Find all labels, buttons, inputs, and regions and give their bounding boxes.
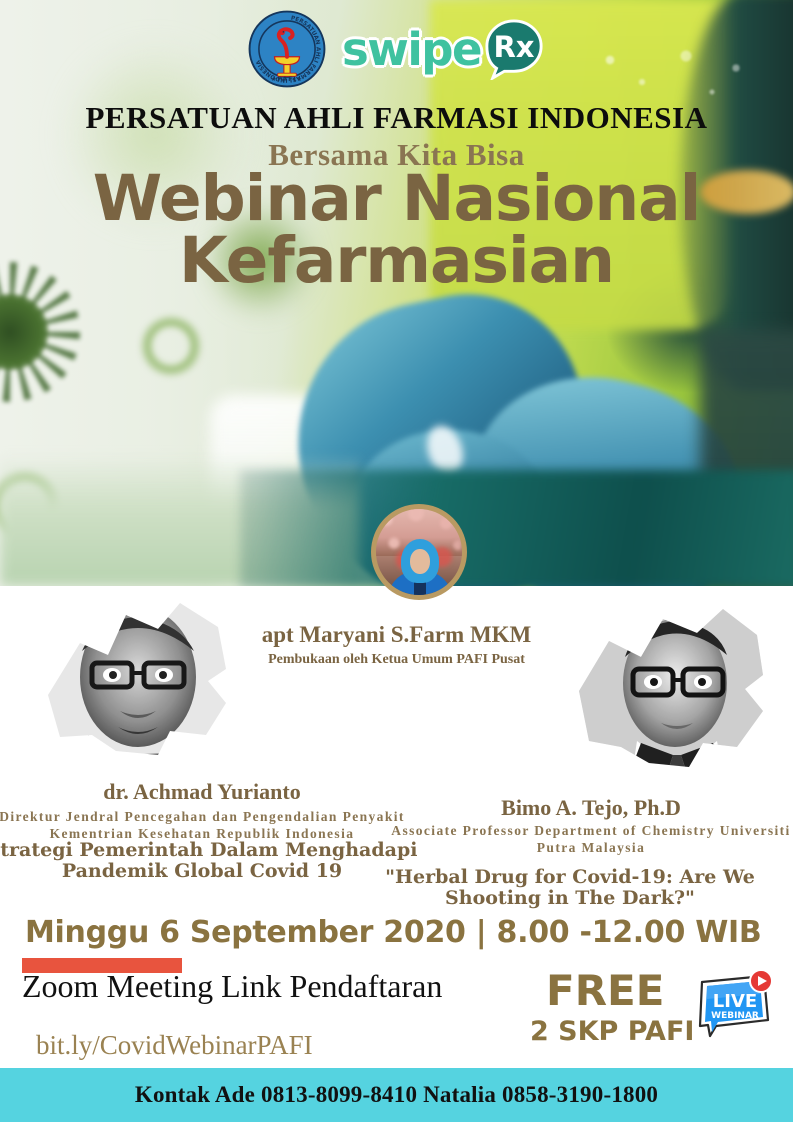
right-speaker-name: Bimo A. Tejo, Ph.D <box>381 795 793 821</box>
virus-blob <box>140 315 202 377</box>
credits-label: 2 SKP PAFI <box>530 1016 694 1047</box>
teal-band <box>240 470 793 586</box>
contact-band: Kontak Ade 0813-8099-8410 Natalia 0858-3… <box>0 1068 793 1122</box>
swiperx-wordmark: swipe <box>342 27 481 72</box>
price-label: FREE <box>546 966 664 1015</box>
brush-stroke-mask <box>565 595 780 780</box>
brush-stroke-mask <box>30 585 245 770</box>
registration-url[interactable]: bit.ly/CovidWebinarPAFI <box>36 1030 313 1061</box>
swiperx-logo: swipe Rx <box>342 18 545 80</box>
left-speaker-portrait <box>30 585 245 770</box>
registration-label: Zoom Meeting Link Pendaftaran <box>22 968 442 1005</box>
svg-text:★PAFI★: ★PAFI★ <box>271 76 303 83</box>
left-speaker-name: dr. Achmad Yurianto <box>0 779 412 805</box>
center-speaker-avatar <box>371 504 467 600</box>
main-title-line2: Kefarmasian <box>0 230 793 292</box>
left-speaker-affiliation: Direktur Jendral Pencegahan dan Pengenda… <box>0 808 412 843</box>
right-speaker-portrait <box>565 595 780 780</box>
main-title: Webinar Nasional Kefarmasian <box>0 168 793 291</box>
organization-title: PERSATUAN AHLI FARMASI INDONESIA <box>0 100 793 136</box>
right-speaker-affiliation: Associate Professor Department of Chemis… <box>381 822 793 857</box>
rx-bubble-icon: Rx <box>483 18 545 80</box>
contact-text: Kontak Ade 0813-8099-8410 Natalia 0858-3… <box>135 1082 658 1108</box>
live-webinar-badge: LIVE WEBINAR <box>694 968 778 1040</box>
avatar-face <box>410 549 430 574</box>
event-dateline: Minggu 6 September 2020 | 8.00 -12.00 WI… <box>25 915 761 950</box>
logo-row: PERSATUAN AHLI FARMASI INDONESIA ★PAFI★ … <box>0 6 793 92</box>
right-speaker-topic: "Herbal Drug for Covid-19: Are We Shooti… <box>340 867 793 910</box>
svg-text:Rx: Rx <box>493 30 534 64</box>
webinar-poster: PERSATUAN AHLI FARMASI INDONESIA ★PAFI★ … <box>0 0 793 1122</box>
live-badge-line1: LIVE <box>713 991 757 1012</box>
live-badge-line2: WEBINAR <box>711 1011 759 1021</box>
pafi-logo: PERSATUAN AHLI FARMASI INDONESIA ★PAFI★ <box>248 10 326 88</box>
